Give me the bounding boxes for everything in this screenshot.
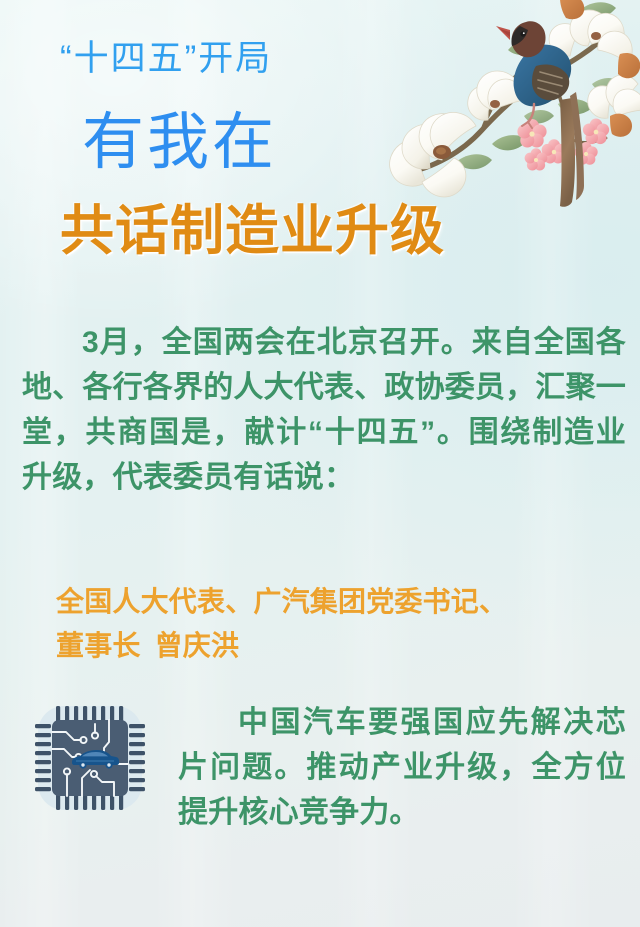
speaker-role: 董事长 bbox=[56, 630, 141, 661]
automotive-chip-icon bbox=[34, 702, 146, 814]
headline-line-3: 共话制造业升级 bbox=[60, 200, 445, 262]
speaker-role-and-name: 董事长曾庆洪 bbox=[56, 624, 616, 668]
headline-line-1: “十四五”开局 bbox=[60, 38, 272, 80]
poster-canvas: “十四五”开局 有我在 共话制造业升级 3月，全国两会在北京召开。来自全国各地、… bbox=[0, 0, 640, 927]
headline-line-2: 有我在 bbox=[82, 108, 277, 178]
quote-text: 中国汽车要强国应先解决芯片问题。推动产业升级，全方位提升核心竞争力。 bbox=[178, 700, 626, 835]
intro-paragraph: 3月，全国两会在北京召开。来自全国各地、各行各界的人大代表、政协委员，汇聚一堂，… bbox=[22, 320, 626, 500]
speaker-title-line: 全国人大代表、广汽集团党委书记、 bbox=[56, 580, 616, 624]
speaker-name: 曾庆洪 bbox=[155, 630, 240, 661]
speaker-identity: 全国人大代表、广汽集团党委书记、 董事长曾庆洪 bbox=[56, 580, 616, 668]
